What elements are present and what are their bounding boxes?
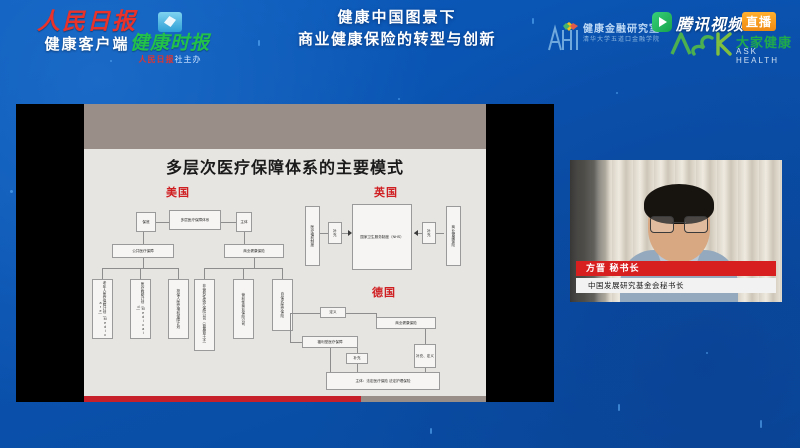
usa-node-nonprofit-insurer: 非营利性医疗保险公司（蓝盾蓝十字） [194, 279, 215, 351]
ahi-monogram-icon [545, 20, 581, 54]
region-label-uk: 英国 [374, 184, 398, 200]
live-badge: 直播 [742, 12, 776, 31]
region-label-germany: 德国 [372, 284, 396, 300]
spark-dot [616, 92, 618, 94]
germany-connector [425, 329, 426, 344]
usa-node-commercial-insurance: 商业健康保险 [224, 244, 284, 258]
spark-dot [618, 404, 620, 411]
glasses-left-lens [650, 216, 674, 233]
tencent-video-live-logo: 腾讯视频 直播 大家健康 ASK HEALTH [652, 10, 794, 62]
usa-node-main: 主体 [236, 212, 252, 232]
uk-node-nhs: 国家卫生服务制度（NHS） [352, 204, 412, 270]
germany-connector [346, 313, 376, 314]
spark-dot [706, 352, 708, 354]
usa-node-medicare: 老年人医疗保障计划（Medicare） [92, 279, 113, 339]
program-title: 健康中国图景下 商业健康保险的转型与创新 [256, 6, 538, 50]
leaf-mark-icon [158, 12, 182, 32]
speaker-name-banner: 方晋 秘书长 [576, 261, 776, 276]
uk-node-left-link: 补充 [328, 222, 342, 244]
usa-connector [178, 268, 179, 279]
usa-node-base: 保底 [136, 212, 156, 232]
germany-node-definition: 定义 [320, 307, 346, 318]
usa-connector [156, 222, 169, 223]
germany-connector [290, 313, 320, 314]
speaker-title-banner: 中国发展研究基金会秘书长 [576, 278, 776, 293]
usa-node-system: 多层医疗保障体系 [169, 210, 221, 230]
slide-title: 多层次医疗保障体系的主要模式 [84, 154, 486, 178]
glasses-right-lens [684, 216, 708, 233]
germany-node-commercial: 商业健康保险 [376, 317, 436, 329]
spark-dot [10, 190, 13, 193]
uk-connector [436, 233, 444, 234]
spark-dot [760, 420, 762, 428]
germany-connector [330, 348, 331, 372]
program-title-line2: 商业健康保险的转型与创新 [256, 28, 538, 50]
usa-node-chip: 投保人医疗福利保障计划 [168, 279, 189, 339]
germany-node-main: 主体：法定医疗保险 法定护理保险 [326, 372, 440, 390]
spark-dot [430, 428, 432, 434]
uk-node-right-link: 补充 [422, 222, 436, 244]
germany-connector [290, 342, 302, 343]
usa-connector [204, 268, 205, 279]
usa-connector [254, 258, 255, 268]
usa-connector [244, 232, 245, 244]
jiankang-shibao-subtitle: 人民日报社主办 [118, 54, 222, 65]
germany-node-supplement: 补充 [346, 353, 368, 364]
speaker-video-panel[interactable]: 方晋 秘书长 中国发展研究基金会秘书长 [570, 160, 782, 302]
uk-arrow-right-to-center [414, 230, 418, 236]
usa-connector [143, 232, 144, 244]
usa-node-medicaid: 医疗救助计划（Medicaid） [130, 279, 151, 339]
spark-dot [398, 98, 400, 100]
germany-node-welfare: 福利型医疗保障 [302, 336, 358, 348]
germany-connector [425, 368, 426, 372]
usa-connector [221, 222, 236, 223]
slide-frame: 多层次医疗保障体系的主要模式 美国 保底 多层医疗保障体系 主体 公共医疗保障 … [16, 104, 554, 402]
broadcast-stage: 人民日报 健康客户端 健康时报 人民日报社主办 健康中国图景下 商业健康保险的转… [0, 0, 800, 448]
play-icon [652, 12, 672, 32]
presentation-slide: 多层次医疗保障体系的主要模式 美国 保底 多层医疗保障体系 主体 公共医疗保障 … [84, 104, 486, 402]
ask-health-en-name: ASK HEALTH [736, 47, 794, 65]
jiankang-shibao-wordmark: 健康时报 [118, 33, 222, 54]
uk-arrow-left-to-center [348, 230, 352, 236]
glasses-icon [650, 216, 708, 231]
usa-node-public-insurance: 公共医疗保障 [112, 244, 174, 258]
uk-connector [320, 233, 328, 234]
uk-node-commercial: 商业健康保险 [446, 206, 461, 266]
usa-connector [282, 268, 283, 279]
germany-connector [357, 348, 358, 353]
broadcast-header: 人民日报 健康客户端 健康时报 人民日报社主办 健康中国图景下 商业健康保险的转… [0, 0, 800, 88]
usa-connector [140, 268, 141, 279]
usa-node-forprofit-insurer: 营利性商业保险公司 [233, 279, 254, 339]
germany-connector [376, 313, 377, 318]
health-finance-institute-logo: 健康金融研究室 清华大学五道口金融学院 [545, 16, 665, 60]
region-label-usa: 美国 [166, 184, 190, 200]
usa-connector [243, 268, 244, 279]
uk-node-welfare: 医疗福利制度 [305, 206, 320, 266]
jiankang-shibao-logo: 健康时报 人民日报社主办 [118, 12, 222, 74]
publisher-suffix: 社主办 [175, 55, 202, 64]
slide-header-band [84, 104, 486, 149]
germany-node-supplement-definition: 补充、定义 [414, 344, 436, 368]
slide-footer-accent [84, 396, 361, 402]
usa-connector [143, 258, 144, 268]
usa-connector [102, 268, 103, 279]
germany-connector [290, 313, 291, 342]
publisher-name: 人民日报 [139, 55, 175, 64]
germany-connector [357, 364, 358, 372]
program-title-line1: 健康中国图景下 [256, 6, 538, 28]
ask-health-mark-icon [668, 30, 734, 56]
